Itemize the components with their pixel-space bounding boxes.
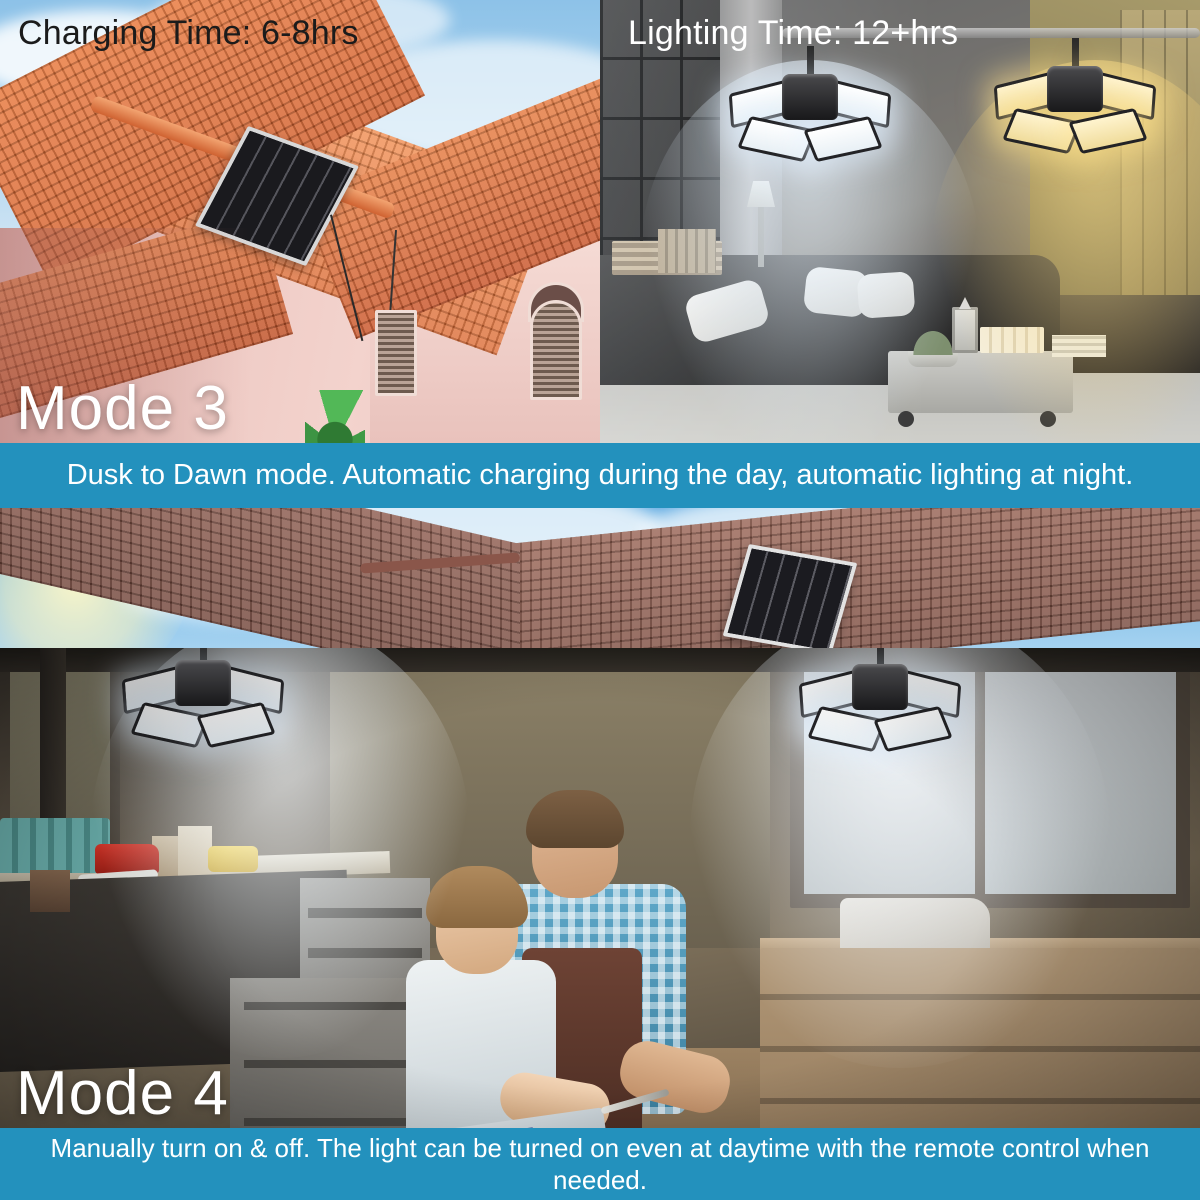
lamp-panel [873, 706, 952, 752]
lamp-housing [782, 74, 838, 120]
table-caster [1040, 411, 1056, 427]
teal-tools [0, 818, 110, 873]
mode4-caption-text: Manually turn on & off. The light can be… [40, 1132, 1160, 1197]
wall-vent [375, 310, 417, 396]
cool-light-tint [600, 0, 930, 443]
lamp-stem [1072, 38, 1079, 68]
mode4-roof-photo [0, 508, 1200, 648]
lamp-panel [1002, 108, 1081, 154]
decor-lantern [952, 307, 978, 353]
man-hair [526, 790, 624, 848]
lamp-panel [1068, 108, 1147, 154]
mode4-caption-bar: Manually turn on & off. The light can be… [0, 1128, 1200, 1200]
candles [980, 327, 1044, 353]
arched-window [530, 300, 582, 400]
wood-block [178, 826, 212, 882]
lamp-housing [852, 664, 908, 710]
lamp-housing [175, 660, 231, 706]
yellow-tool [208, 846, 258, 872]
wood-plank-wall [1120, 10, 1200, 340]
solar-cells [728, 549, 853, 648]
books-stack [1052, 335, 1106, 357]
led-garage-light-left [128, 658, 278, 754]
lamp-panel [196, 702, 275, 748]
mode4-label: Mode 4 [16, 1063, 229, 1125]
lamp-panel [807, 706, 886, 752]
lamp-panel [737, 116, 816, 162]
charging-time-header: Charging Time: 6-8hrs [18, 14, 359, 53]
led-garage-light-cool [735, 72, 885, 168]
lamp-panel [803, 116, 882, 162]
mode3-label: Mode 3 [16, 378, 229, 440]
mode3-caption-bar: Dusk to Dawn mode. Automatic charging du… [0, 443, 1200, 508]
product-feature-image: Charging Time: 6-8hrs [0, 0, 1200, 1200]
lamp-panel [130, 702, 209, 748]
wood-block [30, 870, 70, 912]
lighting-time-header: Lighting Time: 12+hrs [628, 14, 958, 53]
led-garage-light-warm [1000, 64, 1150, 160]
palm-plant [305, 390, 365, 443]
led-garage-light-right [805, 662, 955, 758]
lamp-housing [1047, 66, 1103, 112]
mode3-caption-text: Dusk to Dawn mode. Automatic charging du… [67, 459, 1134, 492]
